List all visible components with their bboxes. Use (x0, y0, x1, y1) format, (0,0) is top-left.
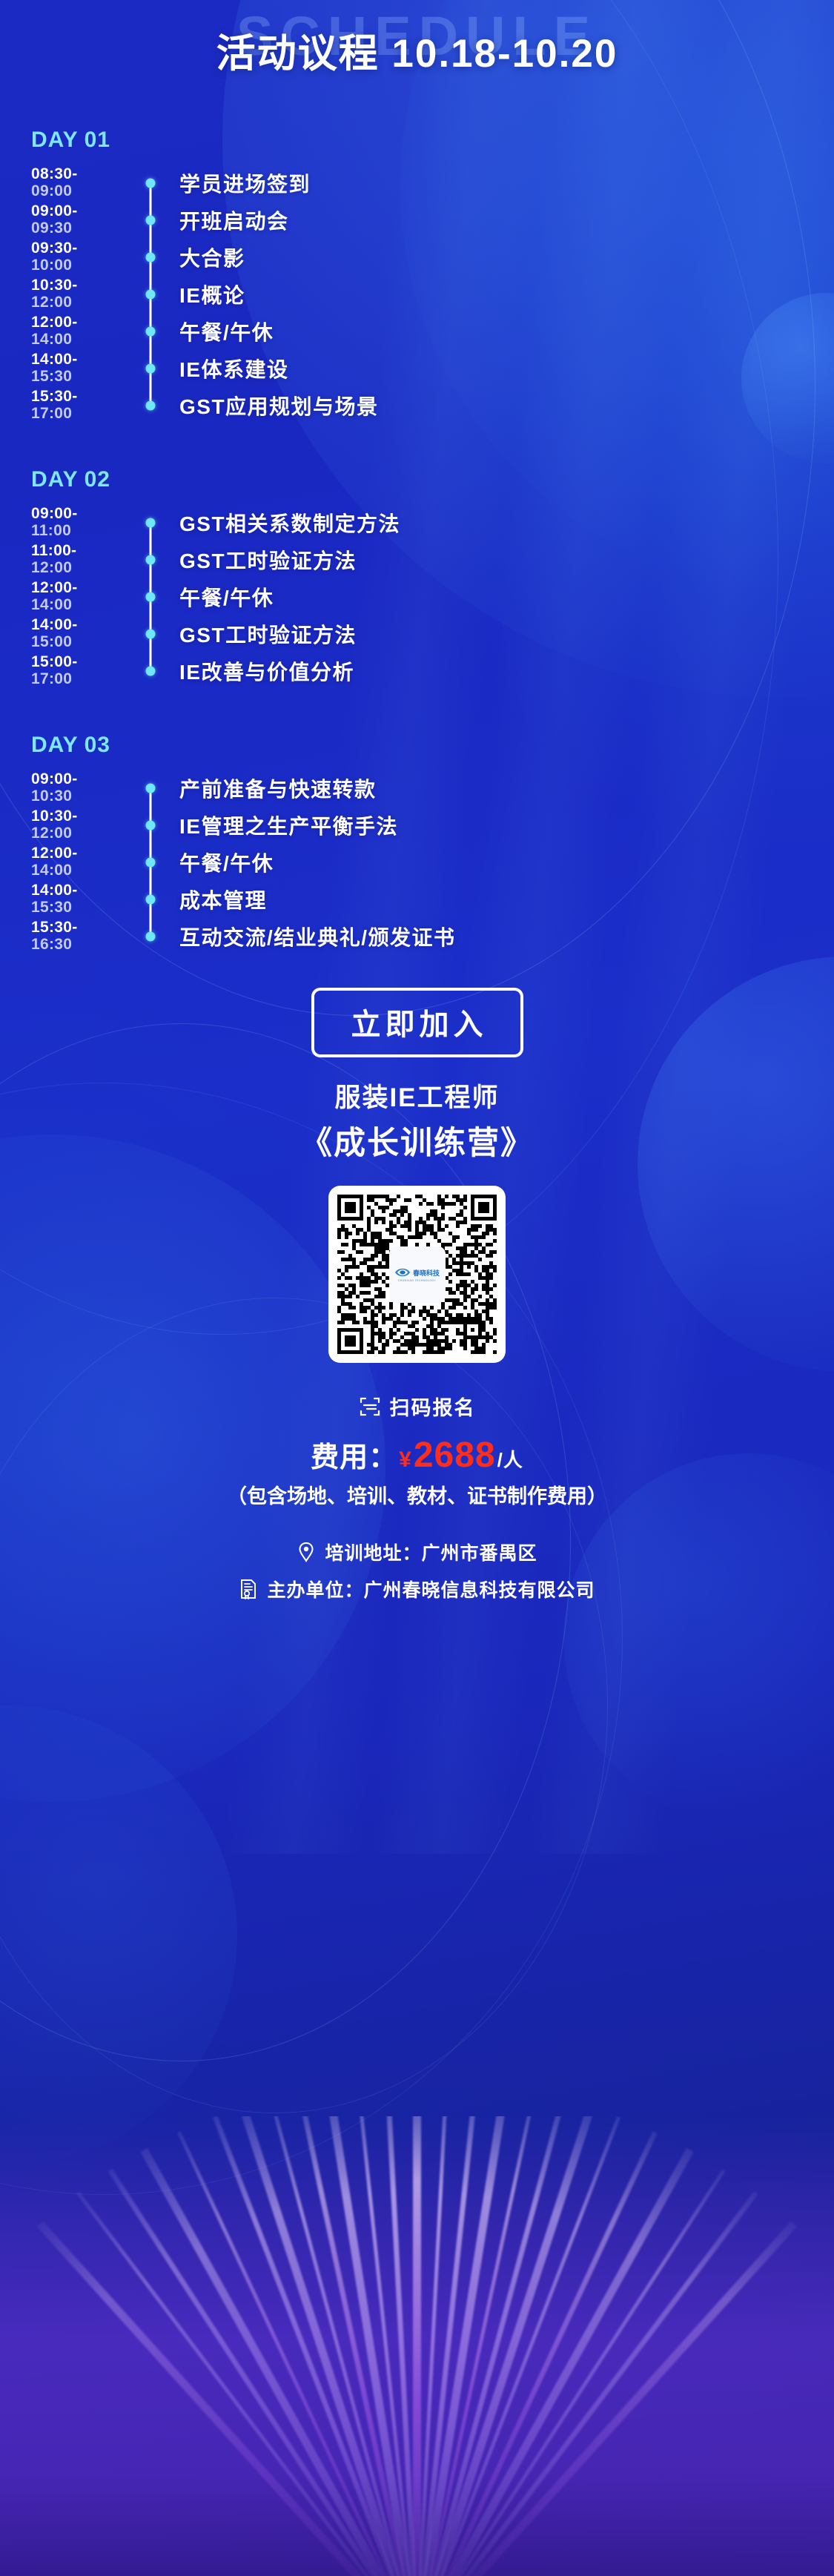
light-ray (413, 2116, 509, 2576)
schedule-row: 15:30-16:30互动交流/结业典礼/颁发证书 (0, 918, 834, 955)
time-end: 09:30 (31, 220, 126, 237)
light-ray (414, 2116, 565, 2576)
session-topic: 开班启动会 (175, 205, 834, 235)
schedule-row: 14:00-15:00GST工时验证方法 (0, 615, 834, 653)
light-ray (269, 2116, 419, 2576)
session-topic: 互动交流/结业典礼/颁发证书 (175, 922, 834, 951)
camp-title-line2: 《成长训练营》 (0, 1117, 834, 1163)
time-end: 16:30 (31, 937, 126, 954)
qr-section: 春晓科技 CHUNXIAO TECHNOLOGY (0, 1186, 834, 1367)
timeline-dot (146, 895, 156, 905)
time-end: 09:00 (31, 183, 126, 200)
light-ray (297, 2116, 420, 2576)
qr-card[interactable]: 春晓科技 CHUNXIAO TECHNOLOGY (328, 1186, 506, 1363)
bg-light-rays (0, 2116, 834, 2576)
session-topic: 成本管理 (175, 885, 834, 914)
timeline-dot (146, 518, 156, 528)
time-end: 12:00 (31, 294, 126, 311)
time-start: 10:30- (31, 808, 126, 825)
day-block: DAY0209:00-11:00GST相关系数制定方法11:00-12:00GS… (0, 467, 834, 690)
light-ray (414, 2116, 478, 2576)
time-end: 14:00 (31, 331, 126, 349)
time-range: 09:00-10:30 (0, 771, 126, 805)
schedule-row: 10:30-12:00IE概论 (0, 276, 834, 313)
session-topic: 午餐/午休 (175, 582, 834, 612)
light-ray (357, 2116, 419, 2576)
time-start: 09:30- (31, 240, 126, 257)
address-row: 培训地址：广州市番禺区 (0, 1539, 834, 1565)
timeline-dot (146, 932, 156, 942)
session-topic: GST相关系数制定方法 (175, 508, 834, 538)
day-word: DAY (31, 733, 79, 757)
time-start: 11:00- (31, 543, 126, 560)
timeline-dot (146, 290, 156, 300)
timeline-dot (146, 216, 156, 225)
time-end: 12:00 (31, 825, 126, 842)
schedule-row: 12:00-14:00午餐/午休 (0, 844, 834, 881)
schedule-row: 12:00-14:00午餐/午休 (0, 578, 834, 615)
location-pin-icon (297, 1542, 316, 1562)
organizer-label: 主办单位：广州春晓信息科技有限公司 (267, 1576, 595, 1602)
time-range: 15:00-17:00 (0, 654, 126, 687)
price-label: 费用： (311, 1434, 397, 1475)
schedule-row: 14:00-15:30IE体系建设 (0, 350, 834, 387)
price-note: （包含场地、培训、教材、证书制作费用） (0, 1480, 834, 1509)
schedule-row: 14:00-15:30成本管理 (0, 881, 834, 918)
time-range: 14:00-15:00 (0, 617, 126, 650)
time-end: 12:00 (31, 560, 126, 577)
schedule-row: 09:00-09:30开班启动会 (0, 202, 834, 239)
time-start: 08:30- (31, 166, 126, 183)
time-start: 14:00- (31, 882, 126, 899)
session-topic: GST工时验证方法 (175, 619, 834, 649)
price-currency: ¥ (399, 1447, 412, 1473)
timeline-dot (146, 364, 156, 374)
light-ray (177, 2131, 419, 2576)
schedule-row: 11:00-12:00GST工时验证方法 (0, 541, 834, 578)
page-title: 活动议程 10.18-10.20 (0, 22, 834, 79)
price-amount: 2688 (414, 1435, 496, 1476)
time-end: 17:00 (31, 671, 126, 688)
timeline-dot (146, 784, 156, 793)
day-word: DAY (31, 128, 79, 152)
light-ray (415, 2191, 758, 2576)
light-ray (385, 2116, 420, 2576)
price-row: 费用： ¥ 2688 /人 (0, 1434, 834, 1476)
time-start: 09:00- (31, 203, 126, 220)
time-end: 14:00 (31, 597, 126, 614)
schedule-row: 12:00-14:00午餐/午休 (0, 313, 834, 350)
light-ray (140, 2148, 420, 2576)
cta-section: 立即加入 服装IE工程师 《成长训练营》 (0, 988, 834, 1163)
light-ray (213, 2116, 420, 2576)
day-rows: 08:30-09:00学员进场签到09:00-09:30开班启动会09:30-1… (0, 165, 834, 424)
timeline-dot (146, 179, 156, 188)
schedule-row: 15:00-17:00IE改善与价值分析 (0, 653, 834, 690)
day-number: 03 (85, 733, 110, 757)
timeline-dot (146, 667, 156, 676)
qr-logo-subtext: CHUNXIAO TECHNOLOGY (398, 1279, 437, 1282)
session-topic: IE管理之生产平衡手法 (175, 810, 834, 840)
time-start: 09:00- (31, 506, 126, 523)
time-start: 14:00- (31, 617, 126, 634)
schedule-row: 09:30-10:00大合影 (0, 239, 834, 276)
chunxiao-eye-icon (394, 1266, 411, 1278)
time-range: 10:30-12:00 (0, 277, 126, 311)
timeline-dot (146, 592, 156, 602)
light-ray (414, 2131, 658, 2576)
organizer-row: 主办单位：广州春晓信息科技有限公司 (0, 1576, 834, 1602)
time-start: 12:00- (31, 580, 126, 597)
timeline-dot (146, 821, 156, 830)
time-range: 09:30-10:00 (0, 240, 126, 274)
day-number: 01 (85, 128, 110, 152)
time-range: 12:00-14:00 (0, 845, 126, 879)
schedule-section: DAY0108:30-09:00学员进场签到09:00-09:30开班启动会09… (0, 128, 834, 955)
time-end: 10:30 (31, 788, 126, 805)
scan-to-register: 扫码报名 (0, 1392, 834, 1421)
qr-logo-text: 春晓科技 (413, 1268, 440, 1278)
session-topic: GST工时验证方法 (175, 545, 834, 575)
poster-header: SCHEDULE 活动议程 10.18-10.20 (0, 0, 834, 98)
time-range: 12:00-14:00 (0, 580, 126, 613)
schedule-row: 15:30-17:00GST应用规划与场景 (0, 387, 834, 424)
time-start: 15:30- (31, 389, 126, 406)
day-block: DAY0108:30-09:00学员进场签到09:00-09:30开班启动会09… (0, 128, 834, 424)
timeline-dot (146, 858, 156, 868)
price-unit: /人 (497, 1445, 523, 1473)
light-ray (414, 2148, 694, 2576)
session-topic: 大合影 (175, 242, 834, 272)
schedule-row: 08:30-09:00学员进场签到 (0, 165, 834, 202)
time-range: 12:00-14:00 (0, 314, 126, 348)
time-range: 08:30-09:00 (0, 166, 126, 199)
session-topic: 学员进场签到 (175, 168, 834, 198)
time-range: 14:00-15:30 (0, 351, 126, 385)
timeline-dot (146, 555, 156, 565)
time-range: 09:00-09:30 (0, 203, 126, 237)
light-ray (415, 2169, 725, 2576)
time-start: 12:00- (31, 314, 126, 331)
time-end: 15:30 (31, 369, 126, 386)
light-ray (239, 2116, 420, 2576)
time-range: 15:30-16:30 (0, 919, 126, 953)
time-start: 15:30- (31, 919, 126, 937)
light-ray (413, 2116, 421, 2576)
time-range: 15:30-17:00 (0, 389, 126, 422)
day-rows: 09:00-10:30产前准备与快速转款10:30-12:00IE管理之生产平衡… (0, 770, 834, 955)
day-label: DAY01 (0, 128, 834, 153)
timeline-dot (146, 253, 156, 262)
light-ray (76, 2192, 418, 2576)
session-topic: IE概论 (175, 280, 834, 309)
light-ray (415, 2116, 620, 2576)
session-topic: GST应用规划与场景 (175, 391, 834, 420)
light-ray (413, 2116, 595, 2576)
day-rows: 09:00-11:00GST相关系数制定方法11:00-12:00GST工时验证… (0, 504, 834, 690)
time-range: 09:00-11:00 (0, 506, 126, 539)
timeline-dot (146, 401, 156, 411)
poster-footer: 扫码报名 费用： ¥ 2688 /人 （包含场地、培训、教材、证书制作费用） 培… (0, 1392, 834, 1602)
time-end: 10:00 (31, 257, 126, 274)
time-start: 09:00- (31, 771, 126, 788)
timeline-dot (146, 630, 156, 639)
time-start: 15:00- (31, 654, 126, 671)
day-label: DAY02 (0, 467, 834, 492)
qr-center-logo: 春晓科技 CHUNXIAO TECHNOLOGY (389, 1246, 446, 1303)
time-end: 11:00 (31, 523, 126, 540)
day-word: DAY (31, 467, 79, 492)
time-range: 10:30-12:00 (0, 808, 126, 842)
schedule-row: 10:30-12:00IE管理之生产平衡手法 (0, 807, 834, 844)
time-start: 10:30- (31, 277, 126, 294)
scan-code-icon (359, 1396, 381, 1418)
day-label: DAY03 (0, 733, 834, 758)
bg-blob-g (0, 1705, 237, 2165)
session-topic: 午餐/午休 (175, 848, 834, 877)
time-end: 15:30 (31, 899, 126, 917)
schedule-row: 09:00-11:00GST相关系数制定方法 (0, 504, 834, 541)
time-start: 12:00- (31, 845, 126, 862)
light-ray (37, 2222, 420, 2576)
time-start: 14:00- (31, 351, 126, 369)
light-ray (415, 2116, 449, 2576)
time-end: 14:00 (31, 862, 126, 879)
certificate-icon (239, 1579, 258, 1599)
time-end: 15:00 (31, 634, 126, 651)
join-now-button[interactable]: 立即加入 (311, 988, 523, 1057)
address-label: 培训地址：广州市番禺区 (325, 1539, 537, 1565)
time-end: 17:00 (31, 406, 126, 423)
day-block: DAY0309:00-10:30产前准备与快速转款10:30-12:00IE管理… (0, 733, 834, 955)
session-topic: 午餐/午休 (175, 317, 834, 346)
time-range: 11:00-12:00 (0, 543, 126, 576)
light-ray (108, 2169, 420, 2576)
timeline-dot (146, 327, 156, 337)
poster-root: SCHEDULE 活动议程 10.18-10.20 DAY0108:30-09:… (0, 0, 834, 2576)
light-ray (415, 2116, 536, 2576)
light-ray (414, 2222, 797, 2576)
session-topic: IE体系建设 (175, 354, 834, 383)
time-range: 14:00-15:30 (0, 882, 126, 916)
day-number: 02 (85, 467, 110, 492)
light-ray (325, 2116, 421, 2576)
camp-title-line1: 服装IE工程师 (0, 1077, 834, 1114)
session-topic: 产前准备与快速转款 (175, 773, 834, 803)
schedule-row: 09:00-10:30产前准备与快速转款 (0, 770, 834, 807)
scan-label: 扫码报名 (390, 1392, 476, 1421)
session-topic: IE改善与价值分析 (175, 656, 834, 686)
